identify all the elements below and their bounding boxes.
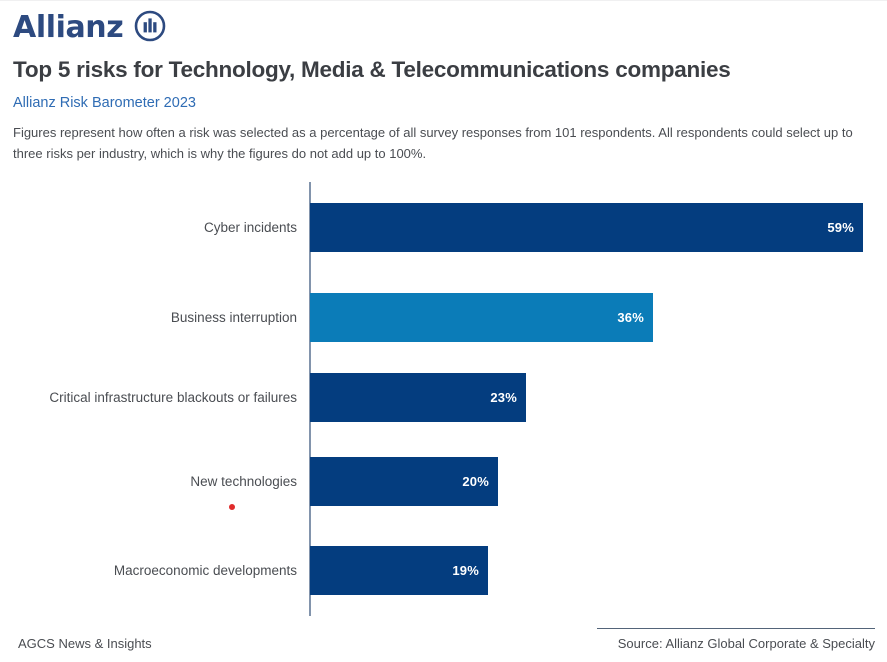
bar-category-label: Cyber incidents: [204, 203, 297, 252]
bar-category-label: Macroeconomic developments: [114, 546, 297, 595]
bar-fill: 36%: [310, 293, 653, 342]
bar-value-label: 36%: [617, 293, 644, 342]
bar-category-label: New technologies: [190, 457, 297, 506]
bar-chart: Cyber incidents 59% Business interruptio…: [0, 178, 887, 614]
bar-value-label: 19%: [452, 546, 479, 595]
bar-fill: 19%: [310, 546, 488, 595]
allianz-wordmark: Allianz: [13, 13, 123, 43]
footer-divider: [597, 628, 875, 629]
bar-row: Macroeconomic developments 19%: [0, 546, 887, 595]
bar-value-label: 23%: [490, 373, 517, 422]
bar-row: Critical infrastructure blackouts or fai…: [0, 373, 887, 422]
bar-row: New technologies 20%: [0, 457, 887, 506]
page-note: Figures represent how often a risk was s…: [13, 122, 875, 164]
bar-fill: 59%: [310, 203, 863, 252]
bar-fill: 23%: [310, 373, 526, 422]
bar-row: Cyber incidents 59%: [0, 203, 887, 252]
bar-category-label: Critical infrastructure blackouts or fai…: [49, 373, 297, 422]
red-dot-marker: [229, 504, 235, 510]
allianz-bars-circle-icon: [134, 10, 166, 47]
footer-left-text: AGCS News & Insights: [18, 636, 152, 651]
bar-value-label: 20%: [462, 457, 489, 506]
page-title: Top 5 risks for Technology, Media & Tele…: [13, 57, 730, 83]
footer-source-text: Source: Allianz Global Corporate & Speci…: [618, 636, 875, 651]
top-divider: [0, 0, 887, 1]
allianz-brand: Allianz: [13, 9, 166, 47]
bar-value-label: 59%: [827, 203, 854, 252]
bar-fill: 20%: [310, 457, 498, 506]
page-subtitle: Allianz Risk Barometer 2023: [13, 95, 196, 111]
chart-page: Allianz Top 5 risks for Technology, Medi…: [0, 0, 887, 662]
bar-row: Business interruption 36%: [0, 293, 887, 342]
bar-category-label: Business interruption: [171, 293, 297, 342]
